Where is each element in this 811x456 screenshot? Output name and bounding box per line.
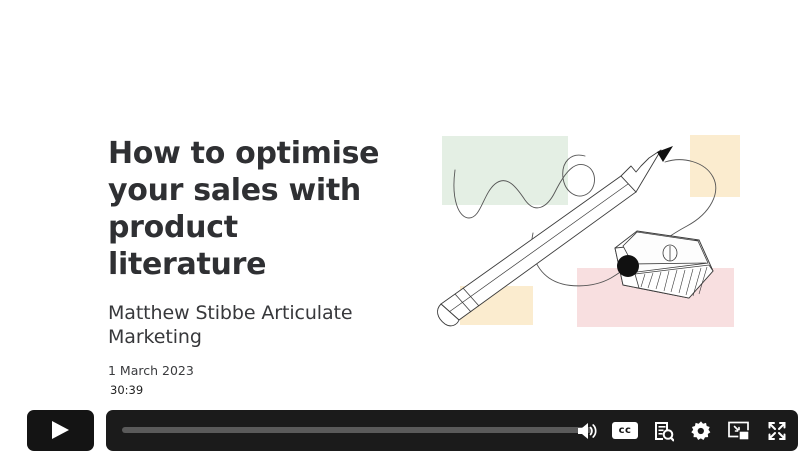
player-control-bar: cc: [0, 400, 811, 456]
slide-text-block: How to optimise your sales with product …: [108, 135, 398, 379]
peach-block-top: [690, 135, 740, 197]
sharpener-hole: [617, 255, 639, 277]
slide-date: 1 March 2023: [108, 363, 398, 379]
progress-bar[interactable]: [122, 427, 592, 433]
settings-gear-icon[interactable]: [688, 418, 714, 444]
transcript-search-icon[interactable]: [650, 418, 676, 444]
play-button[interactable]: [27, 410, 94, 451]
slide-presenter: Matthew Stibbe Articulate Marketing: [108, 301, 398, 349]
video-player-frame[interactable]: How to optimise your sales with product …: [0, 0, 811, 456]
volume-icon[interactable]: [574, 418, 600, 444]
green-block: [442, 136, 568, 205]
closed-captions-icon[interactable]: cc: [612, 422, 638, 439]
time-tooltip: 30:39: [104, 380, 149, 401]
control-icon-group: cc: [574, 410, 790, 451]
picture-in-picture-icon[interactable]: [726, 418, 752, 444]
controls-bar-panel: cc: [106, 410, 798, 451]
fullscreen-icon[interactable]: [764, 418, 790, 444]
pencil-and-sharpener-illustration: [425, 122, 755, 352]
pencil-tip: [657, 146, 673, 162]
play-triangle-icon: [52, 421, 69, 439]
slide-title: How to optimise your sales with product …: [108, 135, 398, 283]
